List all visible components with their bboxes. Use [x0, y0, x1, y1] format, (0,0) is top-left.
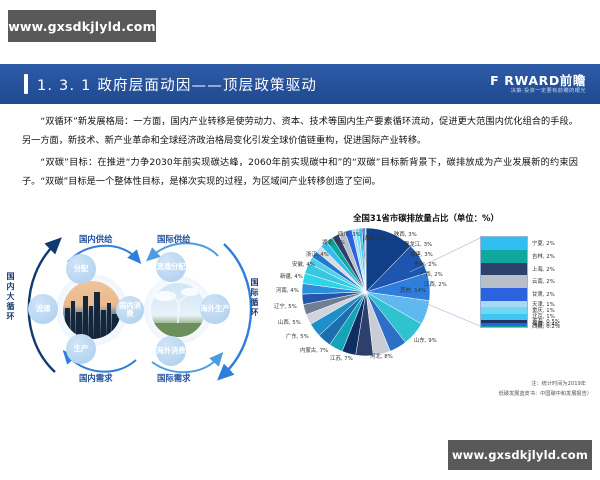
paragraph-dual-carbon: “双碳”目标：在推进“力争2030年前实现碳达峰，2060年前实现碳中和”的“双…	[22, 153, 578, 191]
label-domestic-supply: 国内供给	[79, 233, 113, 245]
pie-label-anhui: 安徽, 4%	[292, 260, 315, 268]
callout-label: 甘肃, 2%	[532, 290, 555, 298]
pie-label-sichuan: 四川, 3%	[338, 230, 361, 238]
pie-label-heilongjiang: 黑龙江, 3%	[404, 240, 432, 248]
pie-label-guizhou: 贵州, 2%	[414, 260, 437, 268]
pie-label-hubei: 湖北, 3%	[322, 238, 345, 246]
pie-label-shanxi: 山西, 5%	[278, 318, 301, 326]
label-international-cycle: 国际循环	[248, 278, 261, 318]
node-overseas-production: 海外生产	[200, 294, 230, 324]
node-consumption-domestic: 国内消费	[116, 296, 144, 324]
pie-label-other: 其他, 14%	[400, 286, 426, 294]
callout-band	[481, 326, 527, 328]
chart-note-source: 低碳发展蓝皮书：中国碳中和发展报告）	[499, 390, 592, 397]
callout-label: 西藏, 0.2%	[532, 322, 560, 330]
pie-label-hebei: 河北, 8%	[370, 352, 393, 360]
brand-logo: F RWARD前瞻 决策·投资一定要有前瞻的眼光	[490, 74, 586, 95]
small-slices-callout	[480, 236, 528, 328]
callout-label: 上海, 2%	[532, 265, 555, 273]
callout-band	[481, 288, 527, 301]
pie-label-henan: 河南, 4%	[276, 286, 299, 294]
pie-label-liaoning: 辽宁, 5%	[274, 302, 297, 310]
brand-tagline: 决策·投资一定要有前瞻的眼光	[490, 89, 586, 94]
node-production-domestic: 生产	[66, 334, 96, 364]
paragraph-dual-circulation: “双循环”新发展格局：一方面，国内产业转移是使劳动力、资本、技术等国内生产要素循…	[22, 112, 578, 150]
callout-label: 吉林, 2%	[532, 252, 555, 260]
label-domestic-demand: 国内需求	[79, 372, 113, 384]
green-energy-photo	[151, 283, 205, 337]
node-circulation-domestic: 流通	[28, 294, 58, 324]
callout-band	[481, 275, 527, 288]
watermark-top: www.gxsdkjlyld.com	[8, 10, 156, 42]
pie-label-guangdong: 广东, 5%	[286, 332, 309, 340]
label-domestic-great-cycle: 国内大循环	[4, 272, 17, 322]
slide-header: 1. 3. 1 政府层面动因——顶层政策驱动 F RWARD前瞻 决策·投资一定…	[0, 64, 600, 104]
watermark-bottom: www.gxsdkjlyld.com	[448, 440, 592, 470]
dual-circulation-diagram: 分配 流通 生产 国内消费 流通分配 海外生产 海外消费	[10, 222, 278, 394]
header-accent-bar	[24, 74, 28, 94]
callout-band	[481, 250, 527, 263]
slide-page: www.gxsdkjlyld.com 1. 3. 1 政府层面动因——顶层政策驱…	[0, 0, 600, 480]
carbon-emission-pie-chart: 全国31省市碳排放量占比（单位：%） 浙江, 4% 安徽, 4% 新疆, 4% …	[282, 212, 594, 408]
node-circulation-distribution-intl: 流通分配	[156, 252, 186, 282]
city-skyline-photo	[63, 281, 121, 339]
callout-label: 宁夏, 2%	[532, 239, 555, 247]
label-international-supply: 国际供给	[157, 233, 191, 245]
pie-label-jiangxi: 江西, 2%	[424, 280, 447, 288]
pie-label-fujian: 福建, 3%	[410, 250, 433, 258]
pie-label-guangxi: 广西, 2%	[420, 270, 443, 278]
brand-name: F RWARD前瞻	[490, 74, 586, 87]
callout-band	[481, 263, 527, 276]
pie-label-xinjiang: 新疆, 4%	[280, 272, 303, 280]
pie-label-inner-mongolia: 内蒙古, 7%	[300, 346, 328, 354]
callout-band	[481, 237, 527, 250]
pie-label-shandong: 山东, 9%	[414, 336, 437, 344]
label-international-demand: 国际需求	[157, 372, 191, 384]
pie-label-hunan: 湖南, 3%	[364, 234, 387, 242]
pie-label-jiangsu: 江苏, 7%	[330, 354, 353, 362]
callout-label: 云南, 2%	[532, 277, 555, 285]
chart-note-period: 注：统计时间为2019年	[531, 380, 586, 387]
page-title: 1. 3. 1 政府层面动因——顶层政策驱动	[37, 74, 317, 95]
pie-label-zhejiang: 浙江, 4%	[306, 250, 329, 258]
node-distribution-domestic: 分配	[66, 254, 96, 284]
pie-label-shaanxi: 陕西, 3%	[394, 230, 417, 238]
body-text: “双循环”新发展格局：一方面，国内产业转移是使劳动力、资本、技术等国内生产要素循…	[22, 112, 578, 194]
node-overseas-consumption: 海外消费	[156, 336, 186, 366]
